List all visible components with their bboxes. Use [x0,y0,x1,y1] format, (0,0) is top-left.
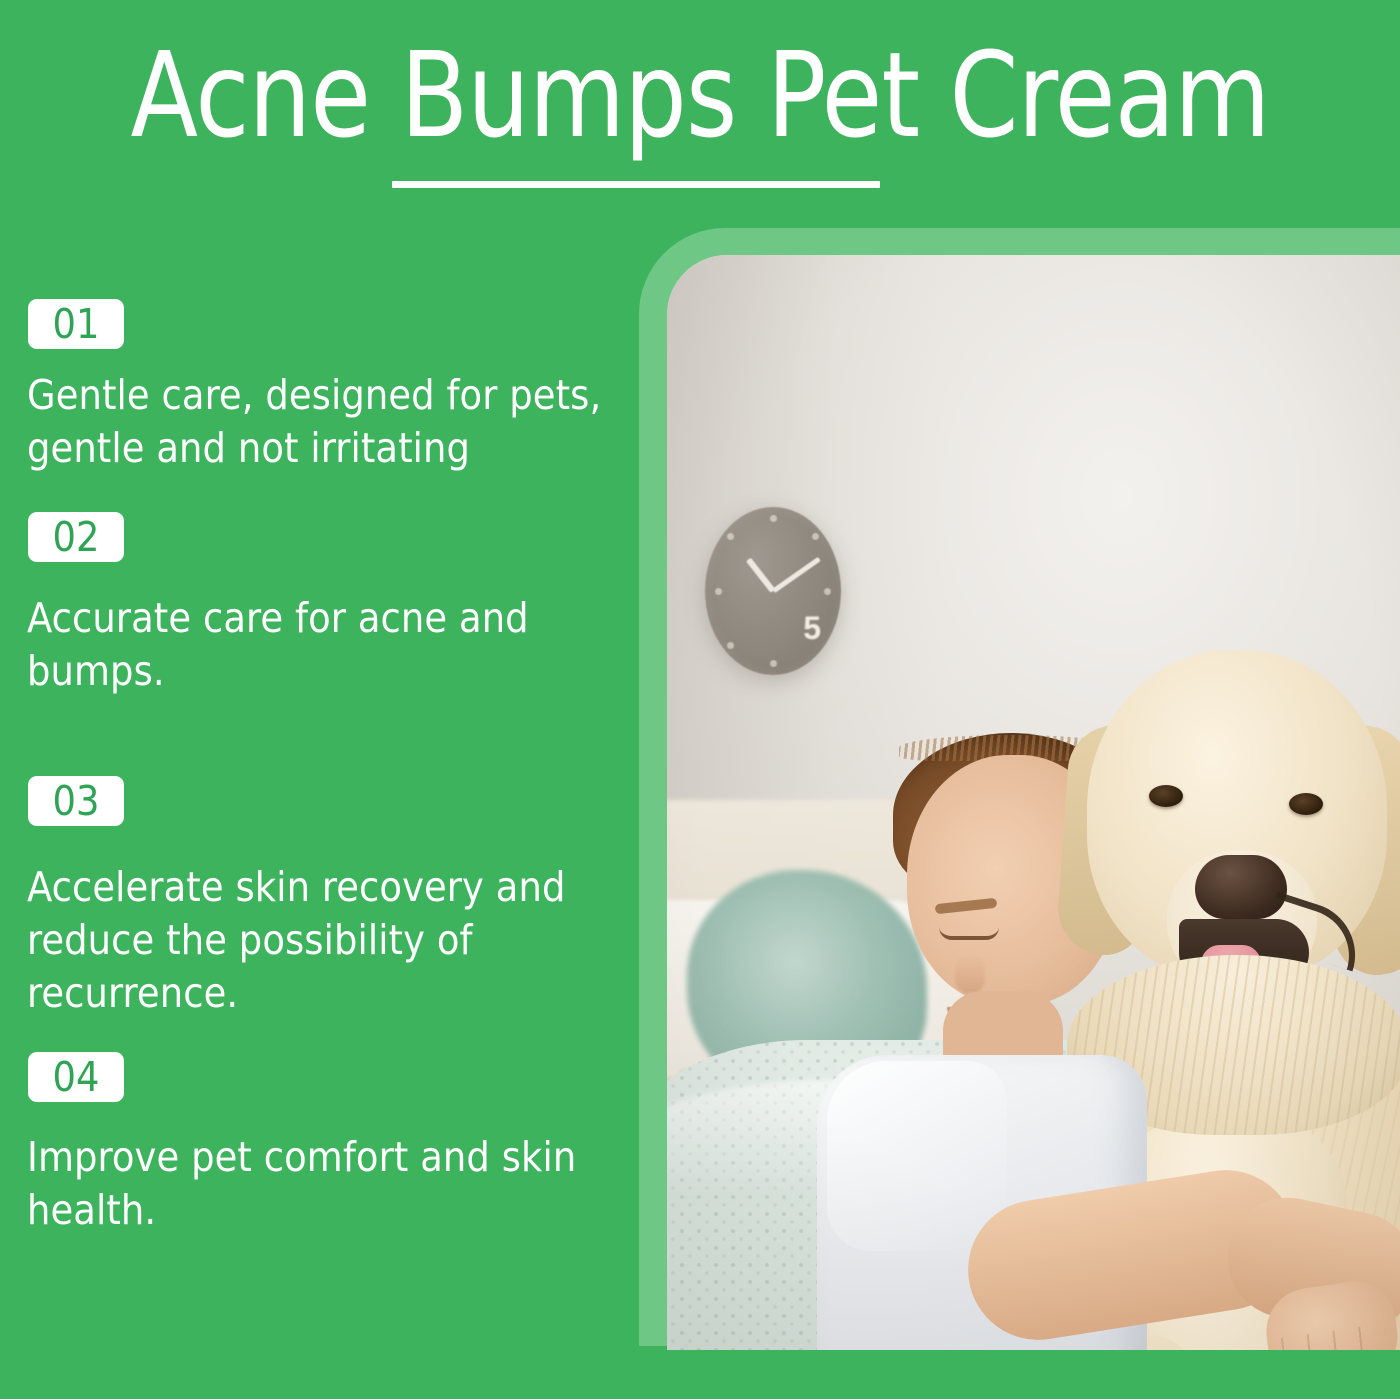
boy-sleeve [827,1061,1007,1251]
dog-left-eye [1149,785,1183,807]
feature-number-badge: 02 [28,512,124,562]
photo-scene: 5 [667,255,1400,1350]
feature-number-badge: 04 [28,1052,124,1102]
dog-right-eye [1289,793,1323,815]
product-lifestyle-photo: 5 [667,255,1400,1350]
clock-hour-marker [715,588,722,595]
clock-hour-marker [770,515,777,522]
clock-numeral: 5 [803,610,821,647]
boy-nose [955,955,985,993]
boy-closed-eye [939,927,999,940]
clock-hour-marker [770,660,777,667]
clock-hour-hand [746,558,775,593]
product-infographic-poster: Acne Bumps Pet Cream 01 Gentle care, des… [0,0,1400,1399]
clock-minute-hand [772,557,821,593]
feature-number-badge: 01 [28,299,124,349]
wall-clock-icon: 5 [705,507,841,675]
feature-list: 01 Gentle care, designed for pets, gentl… [0,0,640,1399]
feature-description: Accelerate skin recovery and reduce the … [27,861,607,1020]
clock-hour-marker [812,533,819,540]
feature-description: Accurate care for acne and bumps. [27,592,607,698]
feature-number-badge: 03 [28,776,124,826]
feature-description: Improve pet comfort and skin health. [27,1131,607,1237]
clock-hour-marker [727,642,734,649]
feature-description: Gentle care, designed for pets, gentle a… [27,369,607,475]
clock-hour-marker [824,588,831,595]
clock-hour-marker [727,533,734,540]
